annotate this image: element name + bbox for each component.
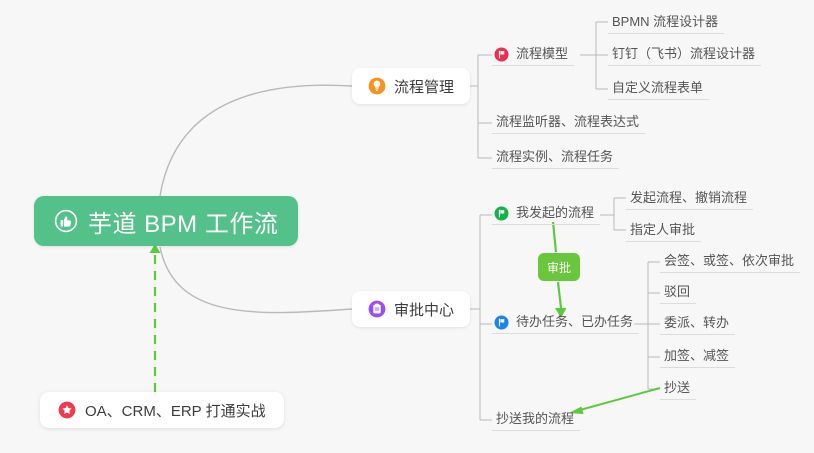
node-label: 自定义流程表单 bbox=[612, 77, 703, 96]
annotation-label: OA、CRM、ERP 打通实战 bbox=[85, 400, 266, 421]
node-label: 驳回 bbox=[664, 281, 690, 300]
annotation-label: 审批 bbox=[547, 259, 571, 276]
node-label: 加签、减签 bbox=[664, 345, 729, 364]
node-reject[interactable]: 驳回 bbox=[660, 278, 696, 304]
node-start-cancel-process[interactable]: 发起流程、撤销流程 bbox=[626, 184, 753, 210]
branch-label: 审批中心 bbox=[394, 299, 454, 320]
node-label: 流程实例、流程任务 bbox=[496, 146, 613, 165]
lightbulb-icon bbox=[368, 77, 386, 95]
node-process-listener-expression[interactable]: 流程监听器、流程表达式 bbox=[492, 108, 645, 134]
node-label: 抄送我的流程 bbox=[496, 408, 574, 427]
node-label: 流程监听器、流程表达式 bbox=[496, 111, 639, 130]
star-icon bbox=[58, 401, 76, 419]
flag-icon bbox=[494, 47, 509, 62]
flag-icon bbox=[494, 206, 509, 221]
node-process-instance-task[interactable]: 流程实例、流程任务 bbox=[492, 143, 619, 169]
node-countersign-orsign-sequential[interactable]: 会签、或签、依次审批 bbox=[660, 247, 800, 273]
node-label: 待办任务、已办任务 bbox=[516, 311, 633, 330]
node-label: 指定人审批 bbox=[630, 219, 695, 238]
node-cc-to-me-processes[interactable]: 抄送我的流程 bbox=[492, 405, 580, 431]
node-bpmn-designer[interactable]: BPMN 流程设计器 bbox=[608, 8, 724, 34]
node-my-started-processes[interactable]: 我发起的流程 bbox=[492, 199, 600, 225]
node-delegate-transfer[interactable]: 委派、转办 bbox=[660, 309, 735, 335]
branch-process-management[interactable]: 流程管理 bbox=[352, 68, 470, 104]
node-label: 我发起的流程 bbox=[516, 202, 594, 221]
node-assignee-approval[interactable]: 指定人审批 bbox=[626, 216, 701, 242]
node-label: 钉钉（飞书）流程设计器 bbox=[612, 43, 755, 62]
branch-label: 流程管理 bbox=[394, 76, 454, 97]
clipboard-icon bbox=[368, 300, 386, 318]
node-carbon-copy[interactable]: 抄送 bbox=[660, 374, 696, 400]
node-label: 发起流程、撤销流程 bbox=[630, 187, 747, 206]
node-process-model[interactable]: 流程模型 bbox=[492, 40, 574, 66]
node-label: 委派、转办 bbox=[664, 312, 729, 331]
flag-icon bbox=[494, 315, 509, 330]
root-label: 芋道 BPM 工作流 bbox=[88, 204, 278, 239]
mindmap-canvas[interactable]: 芋道 BPM 工作流 流程管理 流程模型 BPMN 流程设计器 钉钉（飞书）流程 bbox=[0, 0, 814, 453]
node-label: BPMN 流程设计器 bbox=[612, 11, 718, 30]
annotation-integration-callout[interactable]: OA、CRM、ERP 打通实战 bbox=[40, 392, 284, 428]
node-dingtalk-feishu-designer[interactable]: 钉钉（飞书）流程设计器 bbox=[608, 40, 761, 66]
node-custom-process-form[interactable]: 自定义流程表单 bbox=[608, 74, 709, 100]
thumbs-up-icon bbox=[54, 209, 78, 233]
annotation-approval-tag[interactable]: 审批 bbox=[538, 253, 580, 281]
node-label: 抄送 bbox=[664, 377, 690, 396]
branch-approval-center[interactable]: 审批中心 bbox=[352, 291, 470, 327]
node-add-remove-sign[interactable]: 加签、减签 bbox=[660, 342, 735, 368]
node-todo-done-tasks[interactable]: 待办任务、已办任务 bbox=[492, 308, 639, 334]
root-node[interactable]: 芋道 BPM 工作流 bbox=[34, 196, 298, 246]
node-label: 会签、或签、依次审批 bbox=[664, 250, 794, 269]
node-label: 流程模型 bbox=[516, 43, 568, 62]
